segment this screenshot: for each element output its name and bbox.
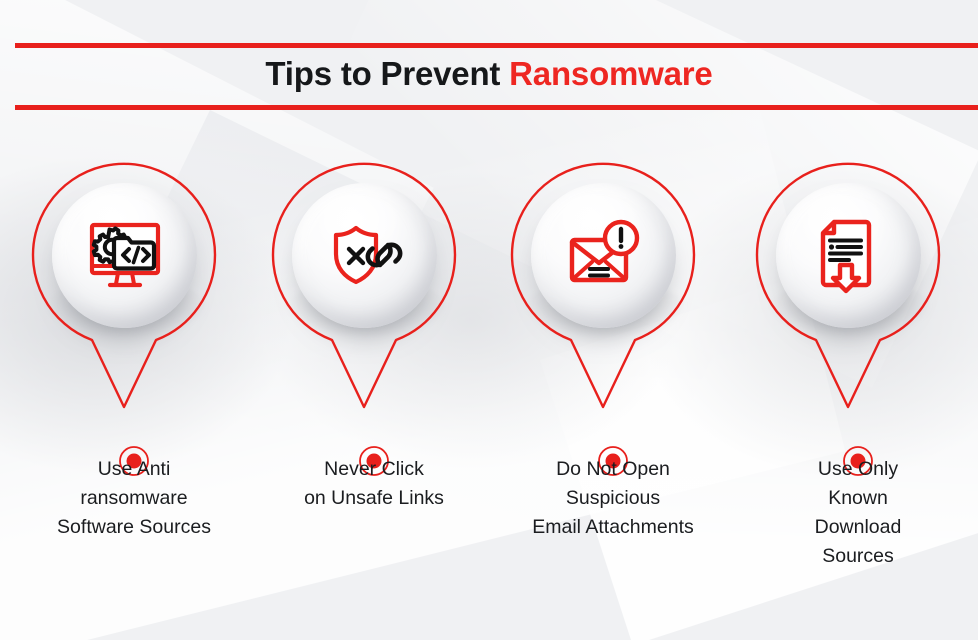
caption-line: Software Sources (6, 513, 262, 542)
shield-x-broken-link-icon (324, 215, 406, 297)
caption-line: Email Attachments (485, 513, 741, 542)
tips-list: Use Anti ransomware Software Sources (0, 120, 978, 640)
caption-line: Suspicious (485, 484, 741, 513)
monitor-code-gear-icon (84, 215, 166, 297)
tip-bubble-4 (738, 152, 978, 442)
caption-line: Known (730, 484, 978, 513)
caption-line: ransomware (6, 484, 262, 513)
infographic-root: Tips to Prevent Ransomware (0, 0, 978, 640)
header-rule-bottom (15, 105, 978, 110)
tip-bubble-3 (493, 152, 733, 442)
bubble-outline-2 (254, 152, 494, 442)
page-title-plain: Tips to Prevent (265, 55, 509, 92)
bubble-outline-4 (738, 152, 978, 442)
tip-caption-1: Use Anti ransomware Software Sources (6, 455, 262, 542)
caption-line: Never Click (246, 455, 502, 484)
tip-caption-4: Use Only Known Download Sources (730, 455, 978, 571)
document-download-icon (808, 215, 890, 297)
page-title: Tips to Prevent Ransomware (0, 55, 978, 93)
caption-line: Do Not Open (485, 455, 741, 484)
caption-line: Download (730, 513, 978, 542)
caption-line: on Unsafe Links (246, 484, 502, 513)
page-title-accent: Ransomware (509, 55, 712, 92)
bubble-outline-1 (14, 152, 254, 442)
tip-item-1[interactable]: Use Anti ransomware Software Sources (14, 120, 254, 640)
email-alert-icon (563, 215, 645, 297)
caption-line: Sources (730, 542, 978, 571)
tip-bubble-1 (14, 152, 254, 442)
tip-item-4[interactable]: Use Only Known Download Sources (738, 120, 978, 640)
caption-line: Use Anti (6, 455, 262, 484)
tip-caption-3: Do Not Open Suspicious Email Attachments (485, 455, 741, 542)
tip-bubble-2 (254, 152, 494, 442)
tip-item-3[interactable]: Do Not Open Suspicious Email Attachments (493, 120, 733, 640)
caption-line: Use Only (730, 455, 978, 484)
header: Tips to Prevent Ransomware (0, 0, 978, 120)
header-rule-top (15, 43, 978, 48)
bubble-outline-3 (493, 152, 733, 442)
tip-item-2[interactable]: Never Click on Unsafe Links (254, 120, 494, 640)
tip-caption-2: Never Click on Unsafe Links (246, 455, 502, 513)
